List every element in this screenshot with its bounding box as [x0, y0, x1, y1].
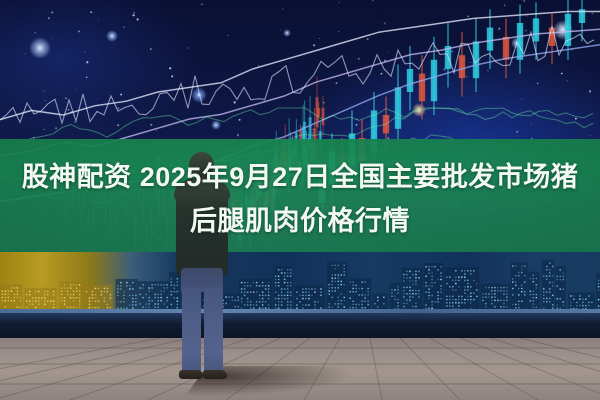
banner-image: 股神配资 2025年9月27日全国主要批发市场猪 后腿肌肉价格行情 [0, 0, 600, 400]
person-right-shoe [203, 370, 227, 379]
person-left-leg [182, 288, 201, 374]
headline-block: 股神配资 2025年9月27日全国主要批发市场猪 后腿肌肉价格行情 [0, 139, 600, 259]
headline-line-1: 股神配资 2025年9月27日全国主要批发市场猪 [22, 157, 579, 197]
headline-line-2: 后腿肌肉价格行情 [190, 201, 410, 241]
person-right-leg [204, 288, 223, 374]
person-left-shoe [179, 370, 203, 379]
